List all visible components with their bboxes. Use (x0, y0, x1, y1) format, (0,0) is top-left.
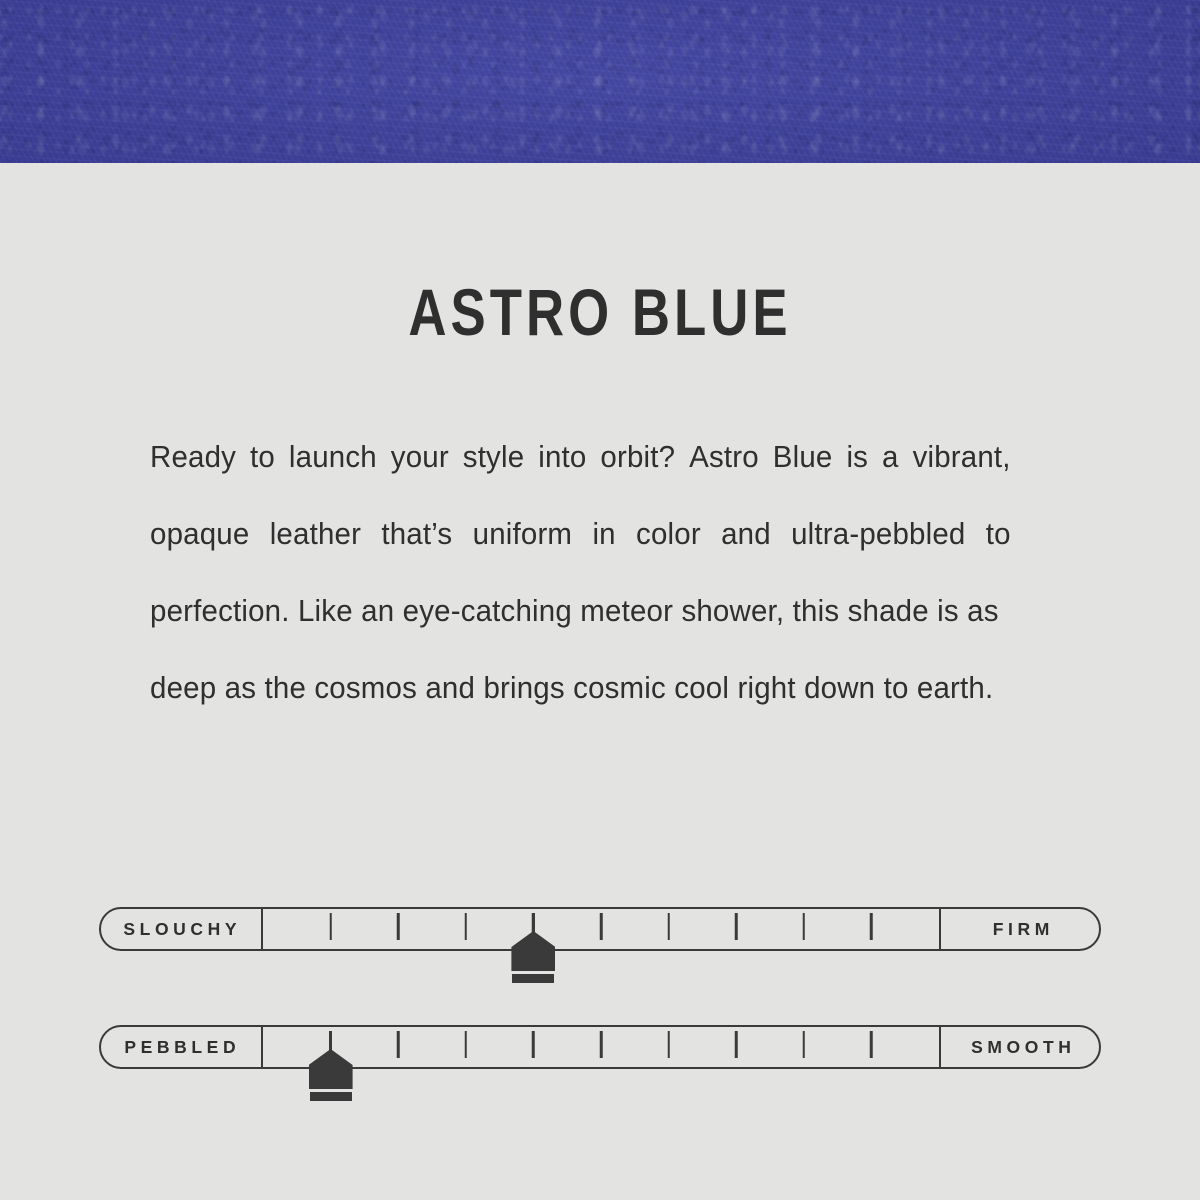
description-word: uniform (473, 509, 573, 586)
scale-marker-bar (310, 1092, 352, 1101)
scale-marker-head (511, 931, 555, 971)
scale-drape-right-label: FIRM (939, 907, 1101, 951)
scale-drape-track[interactable] (263, 907, 939, 951)
description-word: leather (270, 509, 361, 586)
scale-tick (532, 1031, 535, 1058)
scale-drape-left-label: SLOUCHY (99, 907, 263, 951)
scale-tick (600, 1031, 603, 1058)
description-word: your (391, 432, 449, 509)
description-word: that’s (381, 509, 452, 586)
scale-tick (667, 1031, 670, 1058)
description-line-2: opaqueleatherthat’suniformincolorandultr… (150, 509, 1011, 586)
description-line-3: perfection. Like an eye-catching meteor … (150, 586, 1011, 663)
description-word: Astro (689, 432, 759, 509)
description-word: launch (289, 432, 377, 509)
scale-tick (870, 1031, 873, 1058)
description-word: color (636, 509, 701, 586)
scale-tick (735, 913, 738, 940)
scale-tick (803, 913, 806, 940)
scale-texture[interactable]: PEBBLED SMOOTH (99, 1025, 1101, 1069)
scale-texture-left-label: PEBBLED (99, 1025, 263, 1069)
scale-tick (600, 913, 603, 940)
description-word: to (250, 432, 275, 509)
scale-marker-head (309, 1049, 353, 1089)
leather-swatch-band (0, 0, 1200, 163)
description-line-1: Readytolaunchyourstyleintoorbit?AstroBlu… (150, 432, 1011, 509)
description-word: in (592, 509, 615, 586)
scale-tick (397, 1031, 400, 1058)
scale-tick (465, 913, 468, 940)
scale-tick (870, 913, 873, 940)
page-title: ASTRO BLUE (120, 279, 1080, 345)
scale-tick (735, 1031, 738, 1058)
description-line-4: deep as the cosmos and brings cosmic coo… (150, 663, 1011, 740)
description-word: orbit? (600, 432, 675, 509)
description-word: into (538, 432, 586, 509)
description-word: style (463, 432, 525, 509)
scale-tick (803, 1031, 806, 1058)
description-word: a (882, 432, 899, 509)
scale-tick (465, 1031, 468, 1058)
scale-tick (329, 913, 332, 940)
description-word: to (986, 509, 1011, 586)
description-block: Readytolaunchyourstyleintoorbit?AstroBlu… (150, 432, 1056, 740)
scale-drape[interactable]: SLOUCHY FIRM (99, 907, 1101, 951)
description-word: Blue (773, 432, 833, 509)
scale-marker-bar (512, 974, 554, 983)
description-word: and (721, 509, 771, 586)
description-word: opaque (150, 509, 249, 586)
description-word: is (846, 432, 868, 509)
description-word: vibrant, (913, 432, 1011, 509)
scale-tick (397, 913, 400, 940)
scale-texture-right-label: SMOOTH (939, 1025, 1101, 1069)
description-word: ultra-pebbled (791, 509, 965, 586)
description-word: Ready (150, 432, 236, 509)
scale-texture-track[interactable] (263, 1025, 939, 1069)
leather-vignette (0, 0, 1200, 163)
scale-tick (667, 913, 670, 940)
